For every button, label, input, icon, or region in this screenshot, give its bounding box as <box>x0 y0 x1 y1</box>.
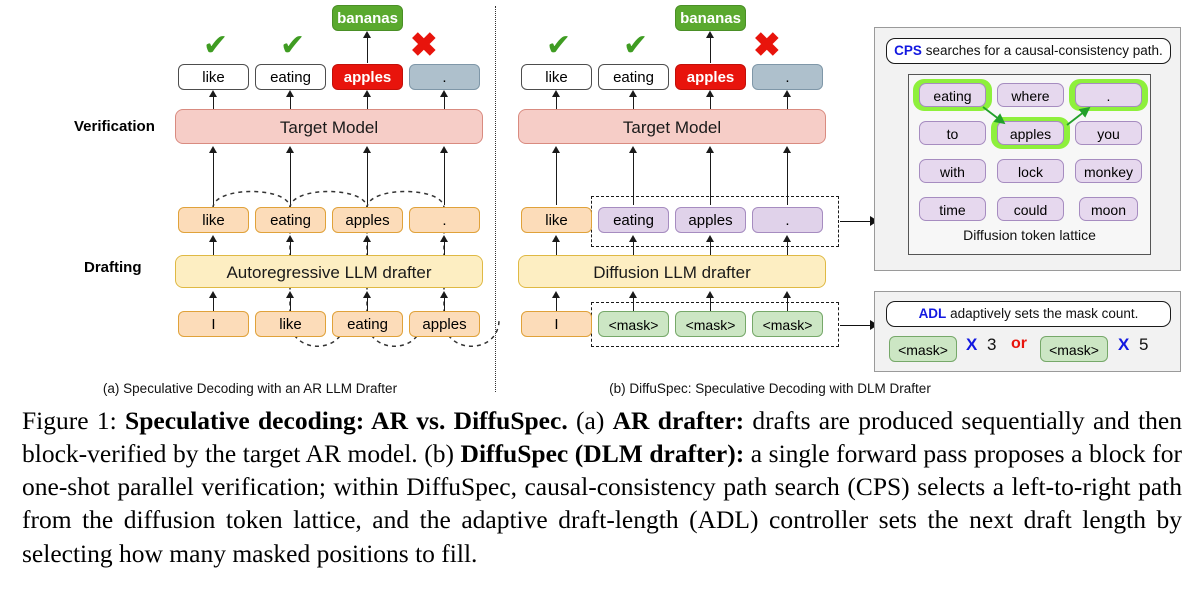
panel-a-mid-arrow-head-2 <box>363 146 371 153</box>
panel-b-draft-arrow-head-0 <box>552 235 560 242</box>
panel-a-verify-token-3: . <box>409 64 480 90</box>
panel-a-target-model: Target Model <box>175 109 483 144</box>
panel-b-verify-token-1: eating <box>598 64 669 90</box>
panel-b-draft-token-1: apples <box>675 207 746 233</box>
panel-b-caption: (b) DiffuSpec: Speculative Decoding with… <box>560 381 980 396</box>
adl-multiply-symbol-first: X <box>966 335 977 355</box>
panel-a-draft-token-1: eating <box>255 207 326 233</box>
caption-text-1: (a) <box>568 406 613 435</box>
panel-b-draft-token-2: . <box>752 207 823 233</box>
panel-b-mid-arrow-head-3 <box>783 146 791 153</box>
panel-b-draft-arrow-head-3 <box>783 235 791 242</box>
panel-a-input-arrow-head-2 <box>363 291 371 298</box>
panel-a-correction-token: bananas <box>332 5 403 31</box>
panel-a-draft-arrow-head-2 <box>363 235 371 242</box>
adl-multiply-symbol-second: X <box>1118 335 1129 355</box>
panel-b-verify-token-3: . <box>752 64 823 90</box>
adl-mask-token-second: <mask> <box>1040 336 1108 362</box>
panel-a-up-arrow-head-1 <box>286 90 294 97</box>
panel-a-up-arrow-head-0 <box>209 90 217 97</box>
panel-b-input-arrow-head-1 <box>629 291 637 298</box>
panel-b-target-model-label: Target Model <box>623 118 721 137</box>
panel-b-check-icon-1: ✔ <box>546 31 571 61</box>
adl-panel: ADL adaptively sets the mask count. <mas… <box>874 291 1181 372</box>
panel-b-mask-token-1: <mask> <box>675 311 746 337</box>
panel-b-up-arrow-head-3 <box>783 90 791 97</box>
panel-a-caption: (a) Speculative Decoding with an AR LLM … <box>60 381 440 396</box>
caption-bold-title: Speculative decoding: AR vs. DiffuSpec. <box>125 406 568 435</box>
panel-b-input-prefix-token: I <box>521 311 592 337</box>
panel-a-input-token-2: eating <box>332 311 403 337</box>
panel-a-verify-token-1: eating <box>255 64 326 90</box>
lattice-caption: Diffusion token lattice <box>909 227 1150 243</box>
panel-b-mid-arrow-head-2 <box>706 146 714 153</box>
caption-prefix: Figure 1: <box>22 406 117 435</box>
panel-b-mid-arrow-head-1 <box>629 146 637 153</box>
figure-caption: Figure 1: Speculative decoding: AR vs. D… <box>22 404 1182 570</box>
figure-diagram: Verification Drafting bananas ✔ ✔ ✖ like… <box>0 0 1200 400</box>
panel-a-verify-token-2: apples <box>332 64 403 90</box>
caption-bold-ar: AR drafter: <box>613 406 745 435</box>
panel-b-verify-token-2: apples <box>675 64 746 90</box>
panel-a-draft-token-2: apples <box>332 207 403 233</box>
adl-mask-token-first: <mask> <box>889 336 957 362</box>
panel-a-draft-arrow-head-0 <box>209 235 217 242</box>
panel-a-mid-arrow-head-3 <box>440 146 448 153</box>
panel-a-draft-arrow-head-1 <box>286 235 294 242</box>
caption-bold-diffuspec: DiffuSpec (DLM drafter): <box>461 439 745 468</box>
panel-a-check-icon-2: ✔ <box>280 31 305 61</box>
panel-a-draft-arrow-head-3 <box>440 235 448 242</box>
panel-b-input-arrow-head-2 <box>706 291 714 298</box>
panel-a-input-arrow-head-1 <box>286 291 294 298</box>
panel-a-drafter-label: Autoregressive LLM drafter <box>226 263 431 282</box>
panel-a-up-arrow-head-2 <box>363 90 371 97</box>
adl-count-second: 5 <box>1139 335 1148 355</box>
panel-b-up-arrow-head-1 <box>629 90 637 97</box>
panel-a-check-icon-1: ✔ <box>203 31 228 61</box>
adl-header-pill: ADL adaptively sets the mask count. <box>886 301 1171 327</box>
cps-panel: CPS searches for a causal-consistency pa… <box>874 27 1181 271</box>
panel-b-input-arrow-head-0 <box>552 291 560 298</box>
panel-b-drafter-label: Diffusion LLM drafter <box>593 263 750 282</box>
panel-b-draft-arrow-head-2 <box>706 235 714 242</box>
panel-a-target-model-label: Target Model <box>280 118 378 137</box>
panel-a-drafter-model: Autoregressive LLM drafter <box>175 255 483 288</box>
row-label-verification: Verification <box>74 118 155 135</box>
panel-b-drafter-model: Diffusion LLM drafter <box>518 255 826 288</box>
panel-b-mid-arrow-head-0 <box>552 146 560 153</box>
cps-keyword: CPS <box>894 43 922 58</box>
panel-b-mask-token-0: <mask> <box>598 311 669 337</box>
panel-b-mid-arrow-line-0 <box>556 150 557 205</box>
panel-a-cross-icon: ✖ <box>410 28 438 61</box>
panel-a-input-token-1: like <box>255 311 326 337</box>
panel-a-input-arrow-head-3 <box>440 291 448 298</box>
panel-a-correction-arrow-head <box>363 31 371 38</box>
panel-a-mid-arrow-head-1 <box>286 146 294 153</box>
adl-header-text: adaptively sets the mask count. <box>946 306 1138 321</box>
panel-b-draft-token-0: eating <box>598 207 669 233</box>
panel-a-up-arrow-head-3 <box>440 90 448 97</box>
panel-a-mid-arrow-head-0 <box>209 146 217 153</box>
adl-connector-line <box>840 325 872 326</box>
diffusion-token-lattice: eating where . to apples you with lock m… <box>908 74 1151 255</box>
panel-b-correction-token: bananas <box>675 5 746 31</box>
panel-b-input-arrow-head-3 <box>783 291 791 298</box>
panel-a-input-token-0: I <box>178 311 249 337</box>
panel-b-target-model: Target Model <box>518 109 826 144</box>
panel-b-mask-token-2: <mask> <box>752 311 823 337</box>
panel-b-verify-token-0: like <box>521 64 592 90</box>
panel-b-up-arrow-head-0 <box>552 90 560 97</box>
panel-a-verify-token-0: like <box>178 64 249 90</box>
panel-b-correction-arrow-head <box>706 31 714 38</box>
panel-b-draft-arrow-head-1 <box>629 235 637 242</box>
panel-a-draft-token-0: like <box>178 207 249 233</box>
adl-keyword: ADL <box>919 306 947 321</box>
cps-header-text: searches for a causal-consistency path. <box>922 43 1163 58</box>
cps-header-pill: CPS searches for a causal-consistency pa… <box>886 38 1171 64</box>
panel-a-input-token-3: apples <box>409 311 480 337</box>
panel-b-up-arrow-head-2 <box>706 90 714 97</box>
adl-or-label: or <box>1011 335 1027 353</box>
cps-connector-line <box>840 221 872 222</box>
panel-b-cross-icon: ✖ <box>753 28 781 61</box>
panel-a-input-arrow-head-0 <box>209 291 217 298</box>
panel-b-draft-prefix-token: like <box>521 207 592 233</box>
panel-b-check-icon-2: ✔ <box>623 31 648 61</box>
panel-a-draft-token-3: . <box>409 207 480 233</box>
adl-count-first: 3 <box>987 335 996 355</box>
